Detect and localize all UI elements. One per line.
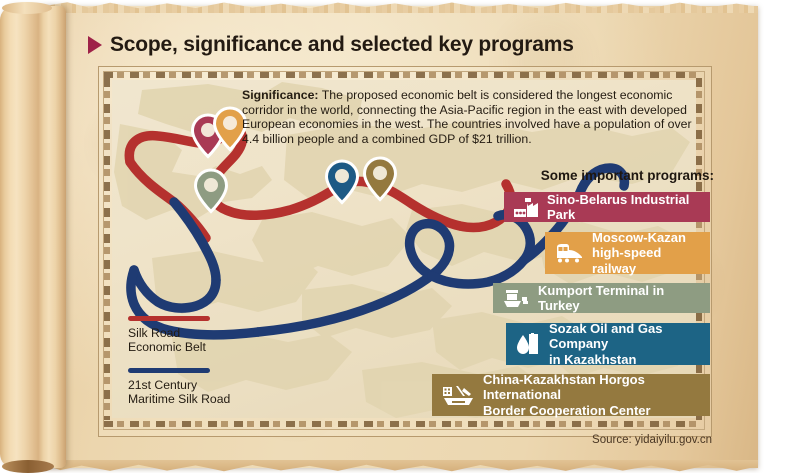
program-item-moscow-kazan[interactable]: Moscow-Kazan high-speed railway [545, 232, 710, 274]
program-label: China-Kazakhstan Horgos International Bo… [483, 372, 698, 419]
legend-label-silk-road: Silk Road Economic Belt [128, 326, 230, 354]
legend-maritime-line2: Maritime Silk Road [128, 392, 230, 406]
page-title-text: Scope, significance and selected key pro… [110, 33, 574, 57]
program-label: Sino-Belarus Industrial Park [547, 192, 698, 223]
cargo-ship-icon [442, 384, 474, 406]
program-item-kumport[interactable]: Kumport Terminal in Turkey [493, 283, 710, 313]
program-label-line1: China-Kazakhstan Horgos International [483, 372, 645, 403]
legend-swatch-silk-road [128, 316, 210, 321]
frame-dash-top [104, 72, 702, 78]
frame-dash-left [104, 78, 110, 420]
legend-maritime-line1: 21st Century [128, 378, 197, 392]
program-label-line2: high-speed railway [592, 245, 661, 276]
significance-label: Significance: [242, 88, 319, 102]
programs-heading: Some important programs: [541, 168, 714, 183]
scroll-cap-bottom [2, 460, 54, 473]
program-label-line2: in Kazakhstan [549, 352, 636, 367]
program-label: Moscow-Kazan high-speed railway [592, 230, 698, 277]
triangle-right-icon [88, 36, 102, 54]
program-item-horgos[interactable]: China-Kazakhstan Horgos International Bo… [432, 374, 710, 416]
program-label: Sozak Oil and Gas Company in Kazakhstan [549, 321, 698, 368]
port-ship-icon [503, 288, 529, 308]
program-item-sozak[interactable]: Sozak Oil and Gas Company in Kazakhstan [506, 323, 710, 365]
legend-swatch-maritime [128, 368, 210, 373]
source-attribution: Source: yidaiyilu.gov.cn [592, 434, 712, 446]
oil-drop-icon [516, 333, 540, 355]
infographic-root: Scope, significance and selected key pro… [0, 0, 790, 473]
significance-paragraph: Significance: The proposed economic belt… [242, 88, 710, 146]
legend-label-maritime: 21st Century Maritime Silk Road [128, 378, 230, 406]
scroll-roll-left [0, 6, 66, 468]
legend-silk-road-line2: Economic Belt [128, 340, 206, 354]
train-icon [555, 243, 583, 263]
program-label-line2: Border Cooperation Center [483, 403, 651, 418]
map-legend: Silk Road Economic Belt 21st Century Mar… [128, 316, 230, 420]
program-label-line1: Sozak Oil and Gas Company [549, 321, 662, 352]
scroll-cap-top [2, 2, 52, 14]
program-label: Kumport Terminal in Turkey [538, 283, 698, 314]
program-item-sino-belarus[interactable]: Sino-Belarus Industrial Park [504, 192, 710, 222]
factory-icon [514, 198, 538, 217]
program-label-line1: Moscow-Kazan [592, 230, 686, 245]
page-title: Scope, significance and selected key pro… [88, 33, 574, 57]
frame-dash-bottom [104, 421, 702, 427]
legend-silk-road-line1: Silk Road [128, 326, 180, 340]
